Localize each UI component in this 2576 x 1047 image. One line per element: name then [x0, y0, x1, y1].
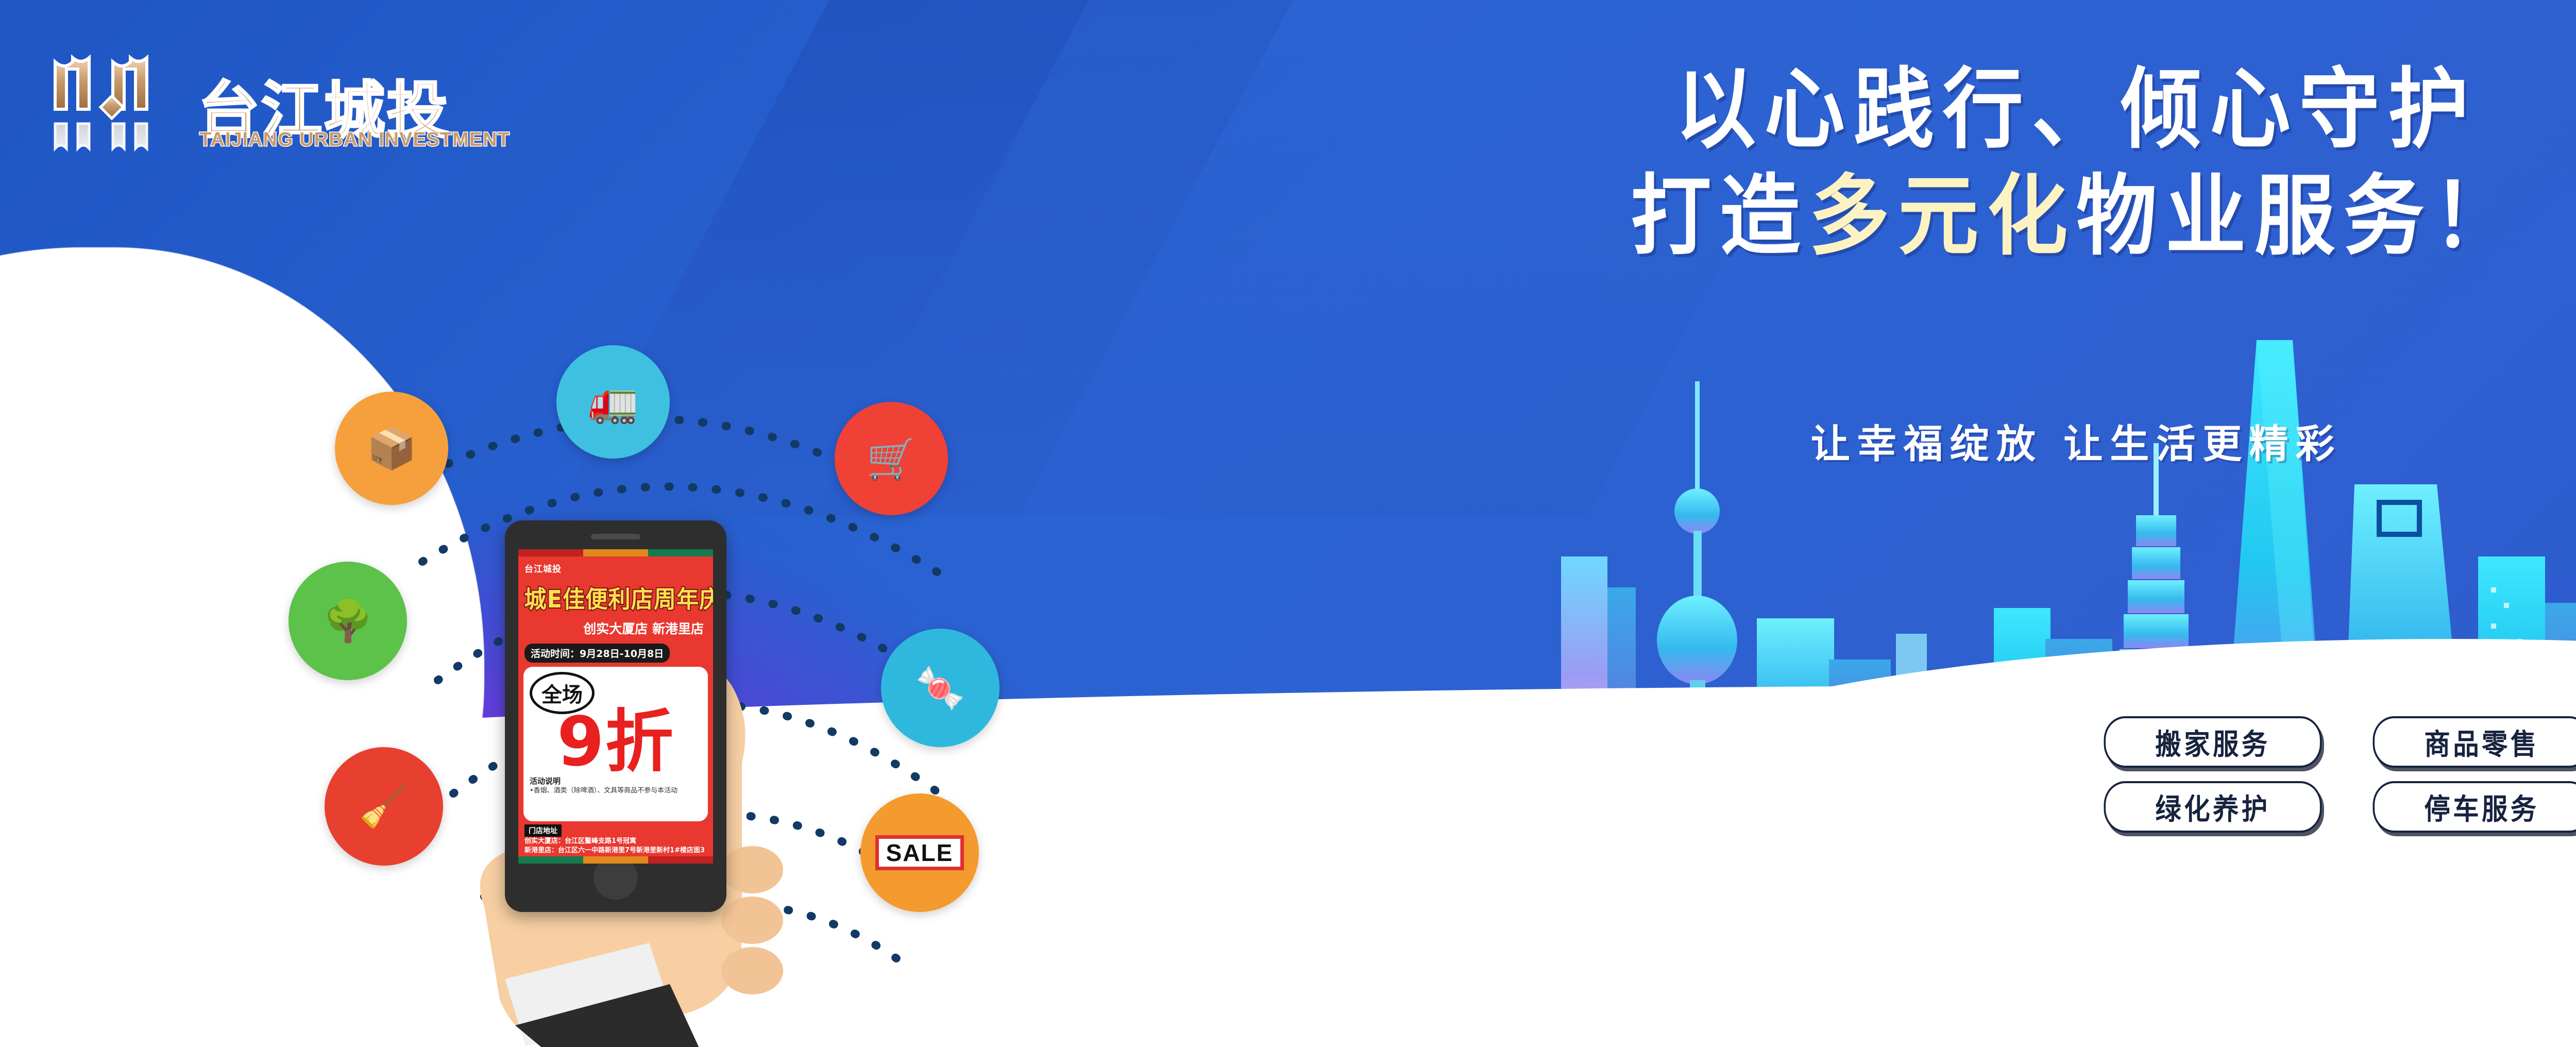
headline-line-1: 以心践行、倾心守护 — [1247, 57, 2576, 163]
service-pill-landscaping[interactable]: 绿化养护 — [2104, 781, 2322, 833]
cleaner-worker-icon: 🧹 — [325, 747, 443, 866]
poster-address-2: 新港里店：台江区六一中路新港里7号新港里新村1#楼店面3 — [524, 846, 713, 855]
poster-discount-card: 全场 9折 活动说明 •香烟、酒类（除啤酒）、文具等商品不参与本活动 — [523, 667, 708, 821]
white-wave-notch — [1108, 773, 1880, 1047]
package-box-icon: 📦 — [335, 392, 448, 505]
poster-note-body: •香烟、酒类（除啤酒）、文具等商品不参与本活动 — [530, 786, 702, 796]
poster-title: 城E佳便利店周年庆 — [524, 581, 707, 615]
sale-badge-label: SALE — [875, 835, 964, 870]
poster-event-period: 活动时间：9月28日-10月8日 — [524, 644, 670, 663]
service-pill-moving[interactable]: 搬家服务 — [2104, 716, 2322, 768]
service-pill-parking[interactable]: 停车服务 — [2373, 781, 2576, 833]
phone-illustration: 📦 🚛 🛒 🌳 🍬 🧹 SALE 台江城投 城 — [319, 340, 1041, 1047]
phone-speaker — [591, 534, 640, 539]
headline-line-2: 打造多元化物业服务！ — [1247, 163, 2576, 270]
shopping-cart-icon: 🛒 — [835, 402, 948, 515]
company-logo[interactable]: 台江城投 TAIJIANG URBAN INVESTMENT — [49, 46, 590, 175]
banner-root: 台江城投 TAIJIANG URBAN INVESTMENT 以心践行、倾心守护… — [0, 0, 2576, 1047]
service-pill-retail[interactable]: 商品零售 — [2373, 716, 2576, 768]
poster-brand-mark: 台江城投 — [524, 562, 713, 575]
poster-address-tag: 门店地址 — [524, 824, 562, 837]
headline-line2-accent: 多元化 — [1809, 165, 2076, 267]
recycling-truck-icon: 🚛 — [556, 345, 670, 459]
logo-emblem-icon — [49, 46, 188, 155]
poster-bottom-colorbar — [518, 856, 713, 864]
poster-store-list: 创实大厦店 新港里店 — [518, 619, 704, 637]
service-pill-grid: 搬家服务 商品零售 家政服务 绿化养护 停车服务 环境卫生 — [2092, 716, 2576, 833]
poster-top-colorbar — [518, 549, 713, 556]
subtitle-text: 让幸福绽放 让生活更精彩 — [1175, 412, 2576, 469]
logo-english-name: TAIJIANG URBAN INVESTMENT — [199, 129, 510, 151]
headline-line2-post: 物业服务！ — [2076, 165, 2522, 267]
headline-line2-pre: 打造 — [1631, 165, 1809, 267]
sale-tag-icon: SALE — [860, 793, 979, 912]
snack-goods-icon: 🍬 — [881, 629, 999, 747]
poster-discount-value: 9折 — [530, 710, 702, 774]
smartphone-device[interactable]: 台江城投 城E佳便利店周年庆 创实大厦店 新港里店 活动时间：9月28日-10月… — [505, 520, 726, 912]
headline-block: 以心践行、倾心守护 打造多元化物业服务！ — [1175, 57, 2576, 271]
phone-screen[interactable]: 台江城投 城E佳便利店周年庆 创实大厦店 新港里店 活动时间：9月28日-10月… — [518, 549, 713, 864]
tree-icon: 🌳 — [289, 562, 407, 680]
poster-address-1: 创实大厦店：台江区鳌峰支路1号冠寓 — [524, 837, 713, 846]
